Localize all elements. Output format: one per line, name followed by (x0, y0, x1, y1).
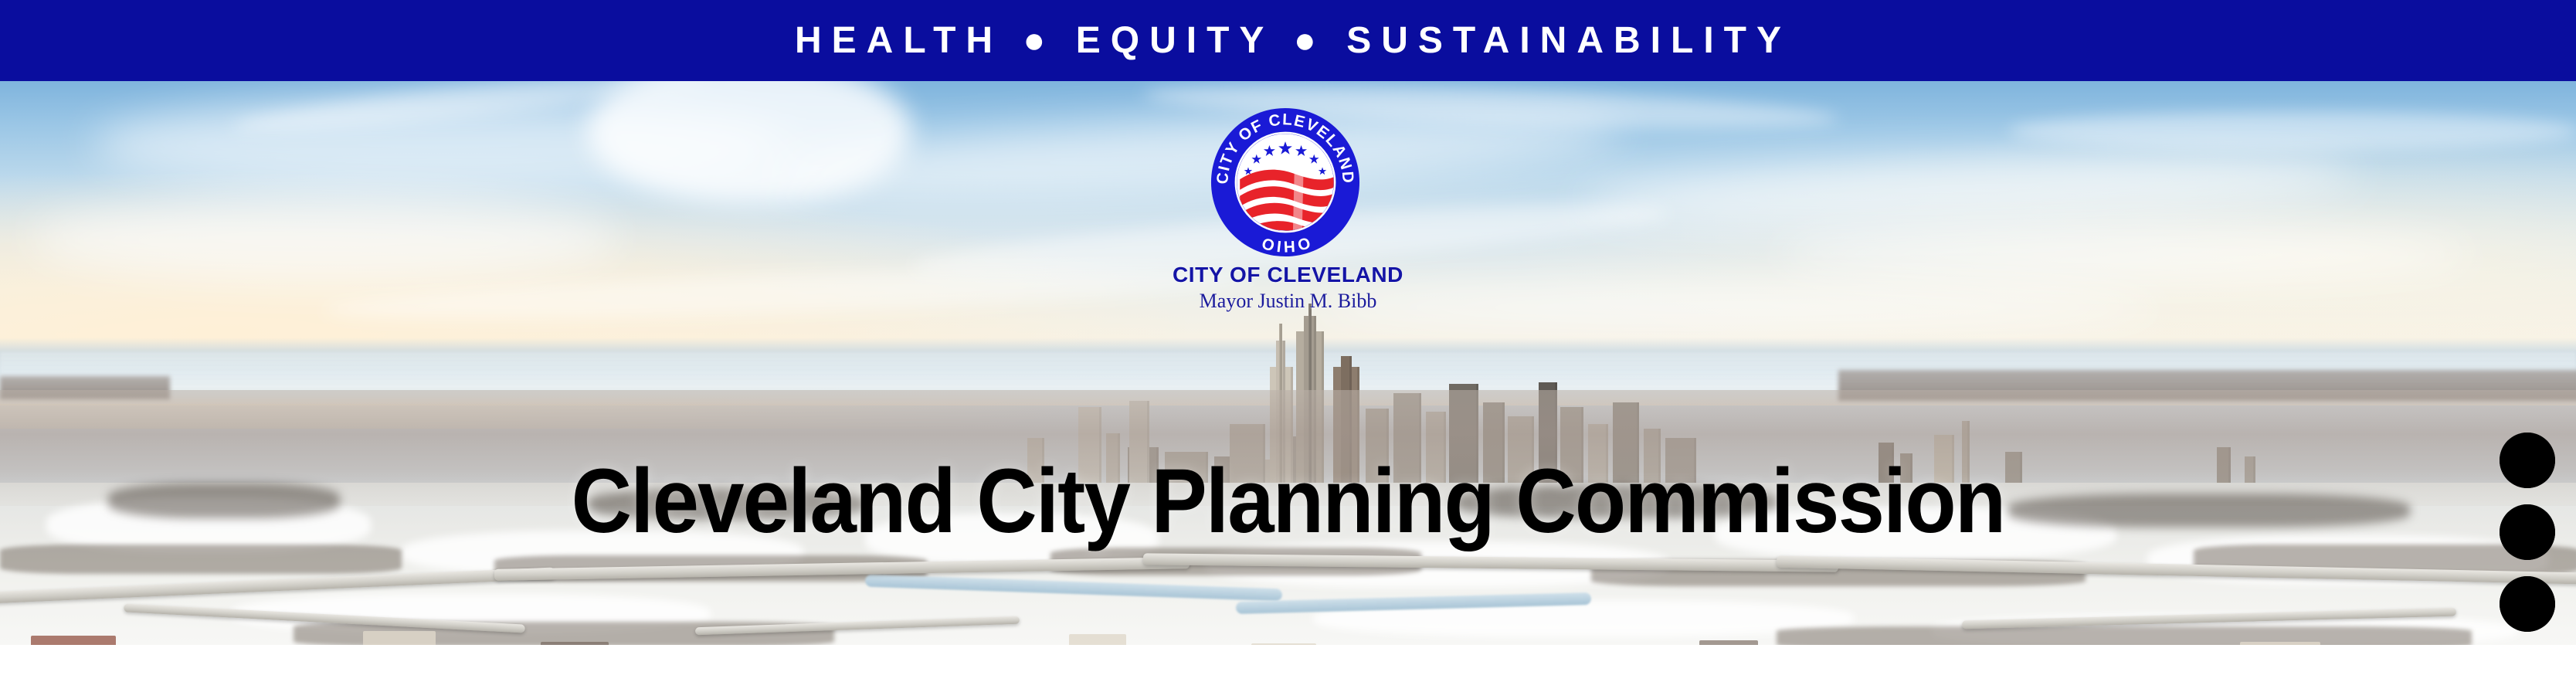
photo-bottom-margin (0, 645, 2576, 682)
city-seal-graphic: CITY OF CLEVELAND OHIO (1210, 107, 1361, 258)
terrain-patch (1452, 486, 1777, 518)
terrain-patch (2008, 494, 2410, 528)
city-seal: CITY OF CLEVELAND OHIO (1210, 107, 1361, 261)
bare-treeline (0, 545, 402, 574)
youtube-link[interactable] (2500, 433, 2555, 488)
instagram-link[interactable] (2500, 504, 2555, 560)
building (363, 631, 436, 645)
cloud (31, 197, 618, 282)
facebook-icon (2500, 576, 2555, 632)
banner-tagline: HEALTH ● EQUITY ● SUSTAINABILITY (785, 22, 1791, 59)
terrain-patch (587, 489, 865, 520)
terrain-patch (108, 483, 340, 518)
page-root: HEALTH ● EQUITY ● SUSTAINABILITY (0, 0, 2576, 682)
social-links (2500, 433, 2555, 648)
cloud (1777, 228, 2472, 282)
facebook-link[interactable] (2500, 576, 2555, 632)
building (31, 636, 116, 645)
youtube-icon (2500, 433, 2555, 488)
bare-treeline (1777, 626, 2472, 645)
instagram-icon (2500, 504, 2555, 560)
top-banner: HEALTH ● EQUITY ● SUSTAINABILITY (0, 0, 2576, 81)
building (1069, 634, 1126, 645)
cloud (2008, 112, 2576, 151)
